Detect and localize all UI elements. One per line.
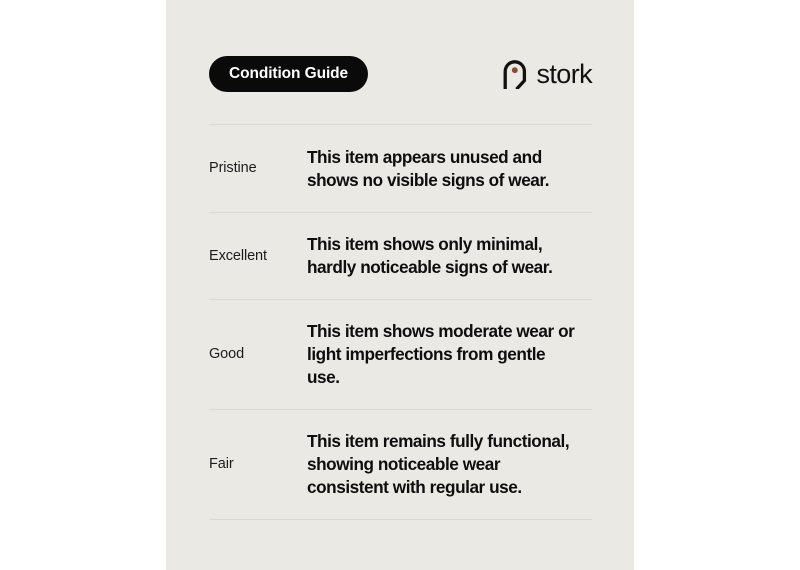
table-row: Fair This item remains fully functional,… — [209, 410, 592, 519]
condition-label: Good — [209, 345, 307, 363]
screenshot-root: Condition Guide stork Pristine This item… — [0, 0, 800, 570]
condition-description: This item remains fully functional, show… — [307, 430, 592, 499]
stork-wordmark: stork — [536, 61, 592, 88]
condition-label: Excellent — [209, 247, 307, 265]
table-row: Good This item shows moderate wear or li… — [209, 300, 592, 409]
card-header: Condition Guide stork — [209, 56, 592, 92]
table-divider-bottom — [209, 519, 592, 520]
condition-guide-badge: Condition Guide — [209, 56, 368, 92]
table-row: Pristine This item appears unused and sh… — [209, 125, 592, 212]
condition-description: This item shows moderate wear or light i… — [307, 320, 592, 389]
condition-guide-card: Condition Guide stork Pristine This item… — [166, 0, 634, 570]
condition-guide-table: Pristine This item appears unused and sh… — [209, 124, 592, 520]
condition-description: This item appears unused and shows no vi… — [307, 146, 592, 192]
condition-description: This item shows only minimal, hardly not… — [307, 233, 592, 279]
condition-label: Fair — [209, 455, 307, 473]
stork-logo-icon — [502, 59, 528, 89]
condition-label: Pristine — [209, 159, 307, 177]
table-row: Excellent This item shows only minimal, … — [209, 213, 592, 299]
brand-lockup: stork — [502, 57, 592, 91]
